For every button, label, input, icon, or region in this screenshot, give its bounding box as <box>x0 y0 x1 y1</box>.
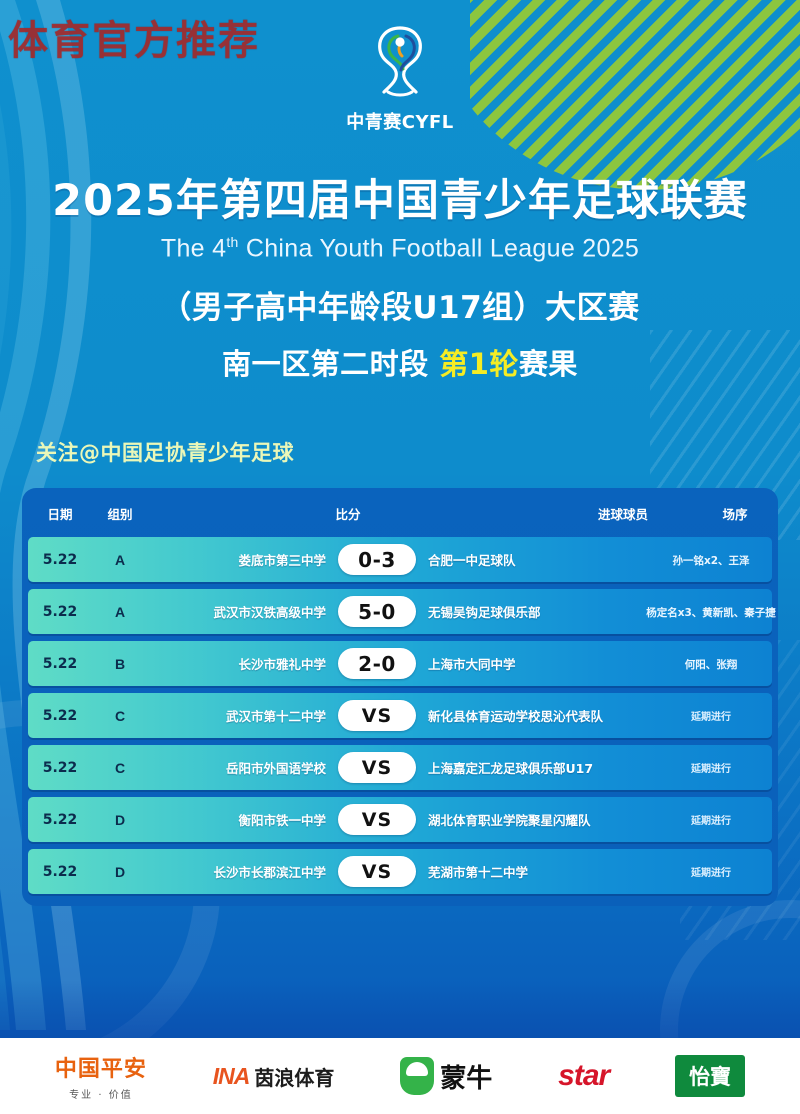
sponsor-yibao: 怡寶 <box>675 1055 745 1097</box>
cell-date: 5.22 <box>28 552 92 568</box>
match-status: 延期进行 <box>691 816 731 827</box>
team-away: 合肥一中足球队 <box>416 550 636 569</box>
scorer-list: 何阳、张翔 <box>685 659 738 671</box>
cell-match-number: 38 <box>786 864 800 880</box>
title-english: The 4th China Youth Football League 2025 <box>0 234 800 263</box>
sponsor-ina: INA 茵浪体育 <box>213 1062 335 1091</box>
table-body: 5.22A娄底市第三中学0-3合肥一中足球队孙一铭x2、王泽325.22A武汉市… <box>28 537 772 894</box>
table-row: 5.22A娄底市第三中学0-3合肥一中足球队孙一铭x2、王泽32 <box>28 537 772 582</box>
background-bottom-band <box>0 980 800 1040</box>
team-home: 武汉市汉铁高级中学 <box>148 602 338 621</box>
title-round-suffix: 赛果 <box>519 347 578 381</box>
cyfl-emblem-icon <box>364 22 436 104</box>
sponsor-pingan: 中国平安 专业 · 价值 <box>55 1051 147 1101</box>
cell-match-number: 35 <box>786 708 800 724</box>
vs-badge: VS <box>338 752 416 783</box>
cell-date: 5.22 <box>28 812 92 828</box>
team-home: 长沙市雅礼中学 <box>148 654 338 673</box>
team-home: 衡阳市铁一中学 <box>148 810 338 829</box>
cell-match: 岳阳市外国语学校VS上海嘉定汇龙足球俱乐部U17 <box>148 752 636 783</box>
vs-badge: VS <box>338 700 416 731</box>
cell-group: D <box>92 812 148 828</box>
cell-group: D <box>92 864 148 880</box>
score-badge: 0-3 <box>338 544 416 575</box>
cell-date: 5.22 <box>28 760 92 776</box>
poster-canvas: 体育官方推荐 中青赛CYFL 2025年第四届中国青少年足球联赛 The 4th… <box>0 0 800 1114</box>
cell-match: 武汉市汉铁高级中学5-0无锡吴钩足球俱乐部 <box>148 596 636 627</box>
mengniu-logo-icon <box>400 1057 434 1095</box>
sponsor-bar: 中国平安 专业 · 价值 INA 茵浪体育 蒙牛 star 怡寶 <box>0 1038 800 1114</box>
team-away: 上海市大同中学 <box>416 654 636 673</box>
header-scorer: 进球球员 <box>548 504 698 523</box>
sponsor-pingan-tagline: 专业 · 价值 <box>69 1086 133 1101</box>
cell-group: A <box>92 552 148 568</box>
cell-match: 长沙市雅礼中学2-0上海市大同中学 <box>148 648 636 679</box>
team-home: 武汉市第十二中学 <box>148 706 338 725</box>
sponsor-ina-name: 茵浪体育 <box>254 1062 334 1091</box>
team-home: 长沙市长郡滨江中学 <box>148 862 338 881</box>
cell-match-number: 32 <box>786 552 800 568</box>
title-round: 南一区第二时段 第1轮赛果 <box>0 341 800 383</box>
cell-match: 娄底市第三中学0-3合肥一中足球队 <box>148 544 636 575</box>
table-row: 5.22D衡阳市铁一中学VS湖北体育职业学院聚星闪耀队延期进行37 <box>28 797 772 842</box>
match-status: 延期进行 <box>691 868 731 879</box>
cell-scorer: 延期进行 <box>636 759 786 777</box>
cell-scorer: 杨定名x3、黄新凯、秦子捷 <box>636 603 786 621</box>
sponsor-star-name: star <box>558 1059 609 1093</box>
team-home: 娄底市第三中学 <box>148 550 338 569</box>
cell-match: 衡阳市铁一中学VS湖北体育职业学院聚星闪耀队 <box>148 804 636 835</box>
cell-match: 武汉市第十二中学VS新化县体育运动学校思沁代表队 <box>148 700 636 731</box>
cell-match-number: 37 <box>786 812 800 828</box>
sponsor-star: star <box>558 1059 609 1093</box>
cell-group: C <box>92 760 148 776</box>
title-age-group: （男子高中年龄段U17组）大区赛 <box>0 282 800 327</box>
header-score: 比分 <box>148 504 548 523</box>
vs-badge: VS <box>338 804 416 835</box>
title-english-ordinal: th <box>226 234 238 250</box>
sponsor-mengniu-name: 蒙牛 <box>440 1058 492 1095</box>
page-title: 2025年第四届中国青少年足球联赛 <box>0 178 800 224</box>
sponsor-ina-mark: INA <box>213 1063 250 1090</box>
header-date: 日期 <box>28 504 92 523</box>
cell-match-number: 33 <box>786 604 800 620</box>
cell-match-number: 34 <box>786 656 800 672</box>
table-row: 5.22A武汉市汉铁高级中学5-0无锡吴钩足球俱乐部杨定名x3、黄新凯、秦子捷3… <box>28 589 772 634</box>
cell-date: 5.22 <box>28 864 92 880</box>
scorer-list: 杨定名x3、黄新凯、秦子捷 <box>646 607 776 619</box>
cell-scorer: 延期进行 <box>636 811 786 829</box>
cell-match: 长沙市长郡滨江中学VS芜湖市第十二中学 <box>148 856 636 887</box>
team-home: 岳阳市外国语学校 <box>148 758 338 777</box>
title-english-pre: The 4 <box>161 235 226 263</box>
score-badge: 5-0 <box>338 596 416 627</box>
scorer-list: 孙一铭x2、王泽 <box>672 555 749 567</box>
results-table: 日期 组别 比分 进球球员 场序 5.22A娄底市第三中学0-3合肥一中足球队孙… <box>22 488 778 906</box>
title-round-prefix: 南一区第二时段 <box>222 347 439 381</box>
cell-date: 5.22 <box>28 708 92 724</box>
cell-scorer: 延期进行 <box>636 863 786 881</box>
cell-group: B <box>92 656 148 672</box>
team-away: 芜湖市第十二中学 <box>416 862 636 881</box>
match-status: 延期进行 <box>691 764 731 775</box>
title-block: 2025年第四届中国青少年足球联赛 The 4th China Youth Fo… <box>0 178 800 383</box>
sponsor-yibao-name: 怡寶 <box>689 1061 731 1091</box>
sponsor-pingan-name: 中国平安 <box>55 1051 147 1083</box>
cell-match-number: 36 <box>786 760 800 776</box>
team-away: 湖北体育职业学院聚星闪耀队 <box>416 810 636 829</box>
cell-group: C <box>92 708 148 724</box>
yibao-logo-icon: 怡寶 <box>675 1055 745 1097</box>
header-number: 场序 <box>698 504 772 523</box>
follow-account-text: 关注@中国足协青少年足球 <box>36 437 294 467</box>
cell-group: A <box>92 604 148 620</box>
cell-date: 5.22 <box>28 656 92 672</box>
table-row: 5.22B长沙市雅礼中学2-0上海市大同中学何阳、张翔34 <box>28 641 772 686</box>
title-english-post: China Youth Football League 2025 <box>239 235 640 263</box>
team-away: 新化县体育运动学校思沁代表队 <box>416 706 636 725</box>
cell-scorer: 孙一铭x2、王泽 <box>636 551 786 569</box>
match-status: 延期进行 <box>691 712 731 723</box>
table-row: 5.22C岳阳市外国语学校VS上海嘉定汇龙足球俱乐部U17延期进行36 <box>28 745 772 790</box>
score-badge: 2-0 <box>338 648 416 679</box>
logo-text: 中青赛CYFL <box>346 108 454 134</box>
sponsor-mengniu: 蒙牛 <box>400 1057 492 1095</box>
table-header-row: 日期 组别 比分 进球球员 场序 <box>28 496 772 530</box>
vs-badge: VS <box>338 856 416 887</box>
title-round-highlight: 第1轮 <box>439 347 519 381</box>
watermark-text: 体育官方推荐 <box>8 8 260 66</box>
cell-date: 5.22 <box>28 604 92 620</box>
table-row: 5.22D长沙市长郡滨江中学VS芜湖市第十二中学延期进行38 <box>28 849 772 894</box>
team-away: 无锡吴钩足球俱乐部 <box>416 602 636 621</box>
table-row: 5.22C武汉市第十二中学VS新化县体育运动学校思沁代表队延期进行35 <box>28 693 772 738</box>
team-away: 上海嘉定汇龙足球俱乐部U17 <box>416 758 636 777</box>
header-group: 组别 <box>92 504 148 523</box>
cell-scorer: 延期进行 <box>636 707 786 725</box>
cell-scorer: 何阳、张翔 <box>636 655 786 673</box>
